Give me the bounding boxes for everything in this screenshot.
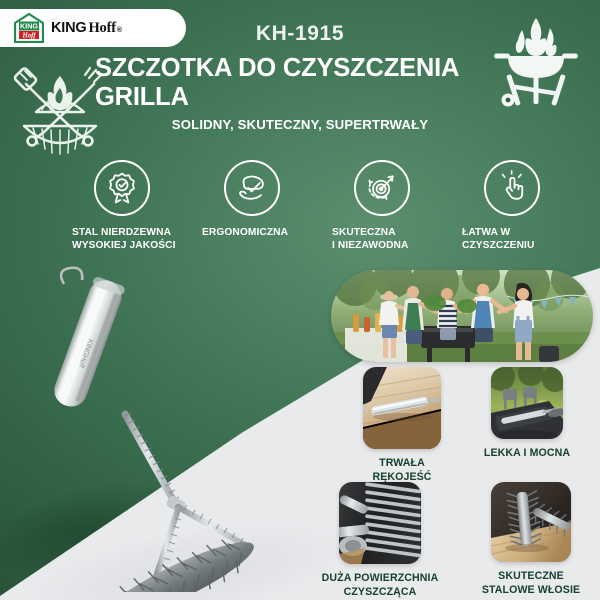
brush-handle-on-wood-photo	[363, 367, 441, 449]
feature-card-label: LEKKA I MOCNA	[466, 447, 588, 461]
feature-label: ŁATWA W CZYSZCZENIU	[462, 226, 592, 253]
brush-outdoor-lightweight-photo	[491, 367, 563, 439]
target-arrow-gear-icon	[354, 160, 410, 216]
grill-grate-cleaning-photo	[339, 482, 421, 564]
feature-item-effective: SKUTECZNA I NIEZAWODNA	[332, 160, 462, 253]
feature-item-ergonomic: ERGONOMICZNA	[202, 160, 332, 239]
feature-card-surface: DUŻA POWIERZCHNIA CZYSZCZĄCA	[300, 482, 460, 600]
feature-label: STAL NIERDZEWNA WYSOKIEJ JAKOŚCI	[72, 226, 202, 253]
pointing-hand-click-icon	[484, 160, 540, 216]
feature-card-bristles: SKUTECZNE STALOWE WŁOSIE	[468, 482, 594, 598]
feature-card-lightweight: LEKKA I MOCNA	[466, 367, 588, 461]
product-infographic: KING Hoff KING Hoff ® KH-1915 SZCZOTKA D…	[0, 0, 600, 600]
steel-bristles-closeup-photo	[491, 482, 571, 562]
feature-label: SKUTECZNA I NIEZAWODNA	[332, 226, 462, 253]
feature-card-label: TRWAŁA RĘKOJEŚĆ	[345, 457, 459, 485]
friends-bbq-party-photo	[331, 270, 593, 362]
feature-card-label: SKUTECZNE STALOWE WŁOSIE	[468, 570, 594, 598]
product-sku: KH-1915	[0, 22, 600, 46]
feature-card-label: DUŻA POWIERZCHNIA CZYSZCZĄCA	[300, 572, 460, 600]
feature-label: ERGONOMICZNA	[202, 226, 332, 239]
feature-list: STAL NIERDZEWNA WYSOKIEJ JAKOŚCI ERGONOM…	[72, 160, 592, 260]
page-title: SZCZOTKA DO CZYSZCZENIA GRILLA	[95, 54, 515, 112]
feature-card-handle: TRWAŁA RĘKOJEŚĆ	[345, 367, 459, 485]
feature-item-easy-clean: ŁATWA W CZYSZCZENIU	[462, 160, 592, 253]
hand-check-ergonomic-icon	[224, 160, 280, 216]
quality-badge-check-icon	[94, 160, 150, 216]
feature-item-stainless-steel: STAL NIERDZEWNA WYSOKIEJ JAKOŚCI	[72, 160, 202, 253]
grill-brush-product-photo: KINGHoff	[28, 262, 258, 592]
page-subtitle: SOLIDNY, SKUTECZNY, SUPERTRWAŁY	[0, 117, 600, 132]
